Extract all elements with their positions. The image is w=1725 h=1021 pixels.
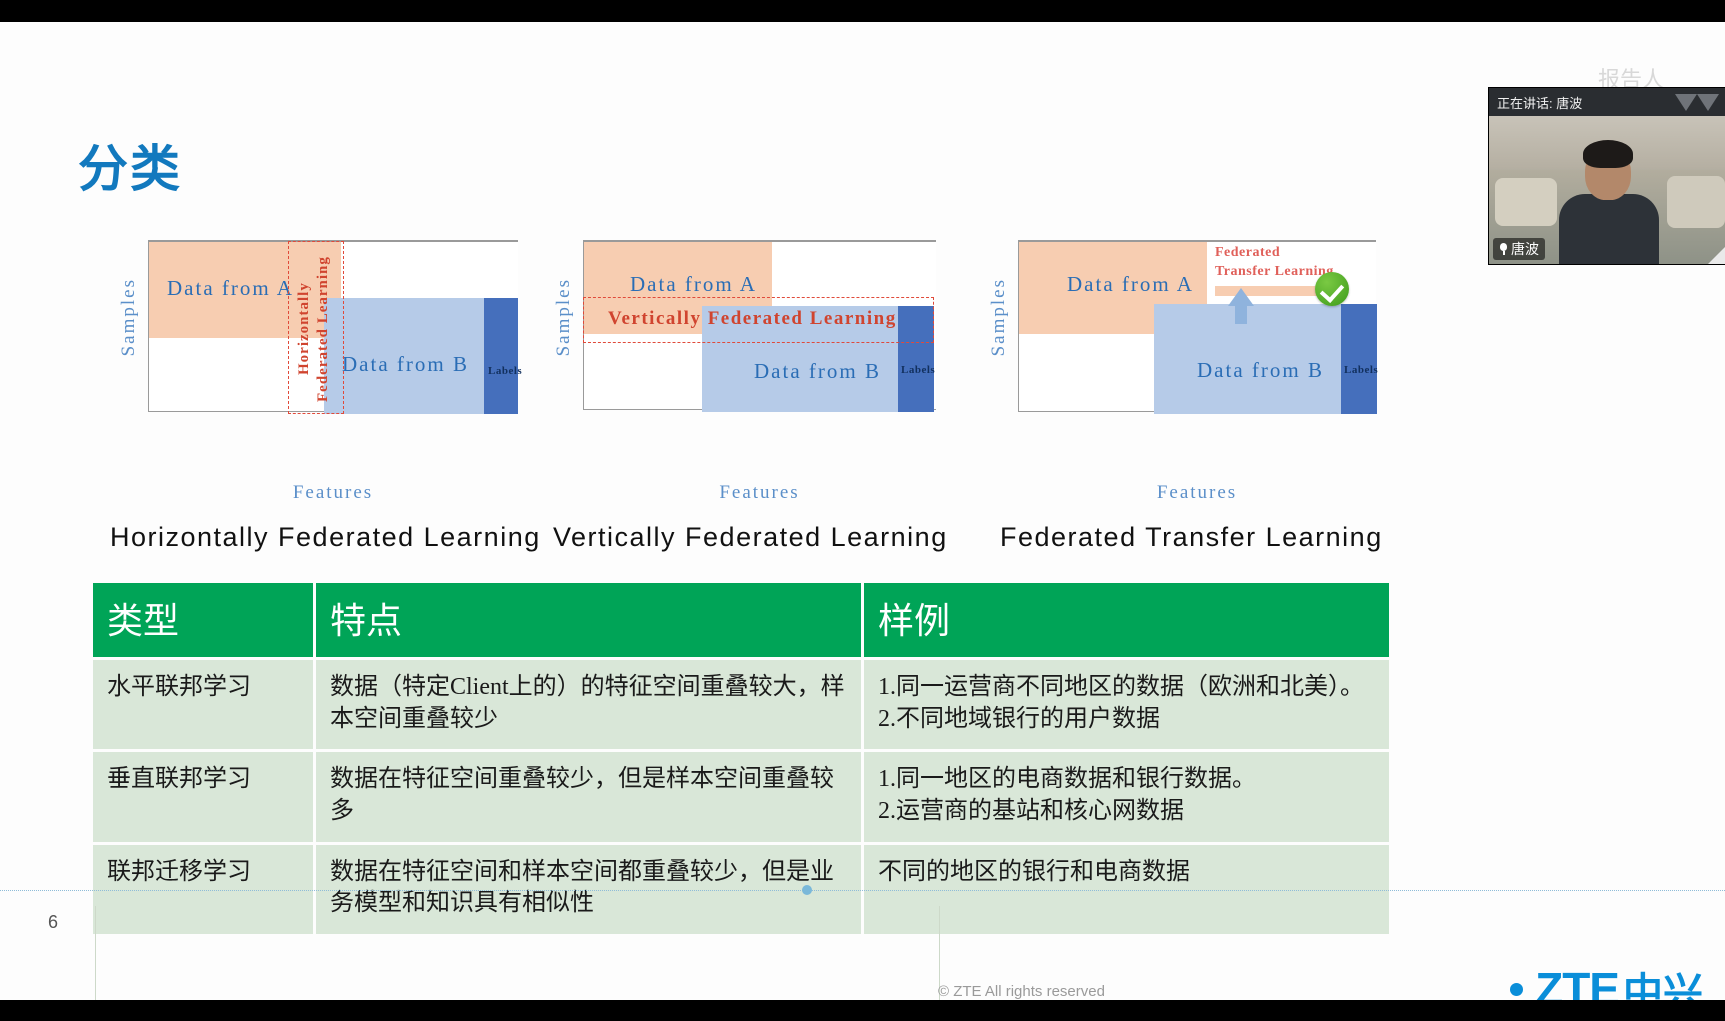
webcam-video-feed[interactable]: 唐波 [1489,116,1725,264]
table-header-feature: 特点 [316,583,861,657]
label-labels-2: Labels [901,364,935,376]
participant-name-label: 唐波 [1511,239,1539,259]
zte-logo-text-cn: 中兴 [1623,960,1703,1000]
webcam-person-body [1559,194,1659,264]
label-data-from-b-1: Data from B [342,352,469,377]
participant-name-badge: 唐波 [1493,238,1545,260]
webcam-person-hair [1583,140,1633,168]
webcam-background-cushion-left [1495,178,1557,226]
cell-type-0: 水平联邦学习 [93,660,313,749]
cell-feature-1: 数据在特征空间重叠较少，但是样本空间重叠较多 [316,752,861,841]
slide-outline-box [95,906,940,1000]
table-row: 水平联邦学习 数据（特定Client上的）的特征空间重叠较大，样本空间重叠较少 … [93,660,1389,749]
resize-handle-icon[interactable] [1708,247,1725,264]
caption-vertically-federated-learning: Vertically Federated Learning [553,522,948,553]
footer-dot-icon [802,885,812,895]
label-data-from-b-2: Data from B [754,359,881,384]
zte-logo-text-en: ZTE [1535,962,1619,1000]
footer-divider [0,890,1725,891]
table-header-example: 样例 [864,583,1389,657]
copyright-notice: © ZTE All rights reserved [938,983,1105,1000]
table-header-type: 类型 [93,583,313,657]
label-data-from-a-1: Data from A [167,276,294,301]
diagram-grid-3: Data from A Data from B Labels Federated… [1018,240,1376,412]
y-axis-label-3: Samples [988,278,1010,356]
page-title: 分类 [78,129,182,201]
selected-check-icon [1315,272,1349,306]
annotation-line-3b: Transfer Learning [1215,264,1334,279]
y-axis-label-1: Samples [118,278,140,356]
y-axis-label-2: Samples [553,278,575,356]
speaking-status-label: 正在讲话: 唐波 [1497,93,1582,112]
block-labels-3 [1341,304,1377,414]
diagram-vertically-federated-learning: Samples Data from A Data from B Labels V… [553,240,953,470]
annotation-label-3: Federated Transfer Learning [1215,244,1334,282]
cell-example-1: 1.同一地区的电商数据和银行数据。 2.运营商的基站和核心网数据 [864,752,1389,841]
label-data-from-b-3: Data from B [1197,358,1324,383]
label-data-from-a-3: Data from A [1067,272,1194,297]
presentation-slide: 分类 Samples Data from A Data from B Label… [0,22,1725,1000]
block-labels-1 [484,298,518,414]
zte-dot-icon [1510,983,1523,996]
diagram-federated-transfer-learning: Samples Data from A Data from B Labels F… [988,240,1388,470]
table-row: 垂直联邦学习 数据在特征空间重叠较少，但是样本空间重叠较多 1.同一地区的电商数… [93,752,1389,841]
cell-feature-0: 数据（特定Client上的）的特征空间重叠较大，样本空间重叠较少 [316,660,861,749]
transfer-arrow-up-stem [1235,304,1247,324]
diagram-grid-1: Data from A Data from B Labels Horizonta… [148,240,518,412]
webcam-background-cushion-right [1667,176,1725,228]
speaking-status-bar: 正在讲话: 唐波 [1489,88,1725,116]
label-labels-1: Labels [488,365,522,377]
zte-logo: ZTE 中兴 [1510,960,1703,1000]
caption-horizontally-federated-learning: Horizontally Federated Learning [110,522,541,553]
comparison-table: 类型 特点 样例 水平联邦学习 数据（特定Client上的）的特征空间重叠较大，… [90,580,1392,937]
annotation-line-1b: Federated Learning [315,256,331,402]
x-axis-label-1: Features [148,482,518,504]
x-axis-label-3: Features [1018,482,1376,504]
cell-type-1: 垂直联邦学习 [93,752,313,841]
microphone-icon [1499,243,1508,255]
label-labels-3: Labels [1344,364,1378,376]
transfer-arrow-up-icon [1228,288,1254,306]
screen: 分类 Samples Data from A Data from B Label… [0,0,1725,1021]
annotation-line-1a: Horizontally [296,283,312,376]
webcam-overlay-panel[interactable]: 正在讲话: 唐波 唐波 [1489,88,1725,264]
caption-federated-transfer-learning: Federated Transfer Learning [1000,522,1383,553]
annotation-label-1: Horizontally Federated Learning [295,250,333,408]
collapse-chevrons-icon[interactable] [1675,94,1719,111]
annotation-label-2: Vertically Federated Learning [608,308,897,330]
diagram-grid-2: Data from A Data from B Labels Verticall… [583,240,936,410]
table-header-row: 类型 特点 样例 [93,583,1389,657]
diagram-horizontally-federated-learning: Samples Data from A Data from B Labels H… [118,240,528,470]
annotation-line-3a: Federated [1215,245,1280,260]
label-data-from-a-2: Data from A [630,272,757,297]
x-axis-label-2: Features [583,482,936,504]
page-number: 6 [48,912,58,933]
cell-example-0: 1.同一运营商不同地区的数据（欧洲和北美）。 2.不同地域银行的用户数据 [864,660,1389,749]
